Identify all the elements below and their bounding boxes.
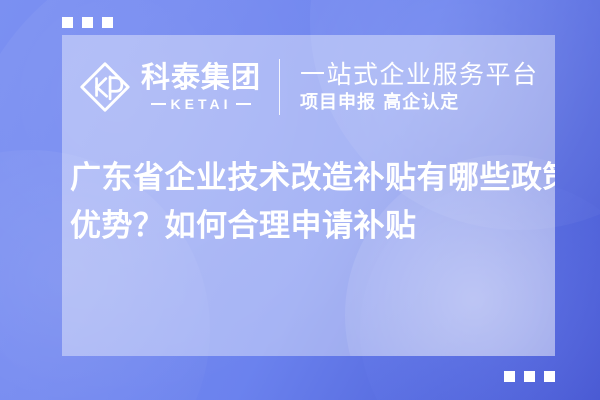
wordmark-rule-right bbox=[236, 103, 251, 105]
headline-title: 广东省企业技术改造补贴有哪些政策优势？如何合理申请补贴 bbox=[70, 154, 555, 250]
ketai-kp-diamond-logo-icon bbox=[78, 60, 132, 114]
brand-name-en: KETAI bbox=[171, 97, 232, 111]
tagline-main: 一站式企业服务平台 bbox=[300, 61, 539, 89]
brand-divider bbox=[279, 59, 280, 115]
tagline-block: 一站式企业服务平台 项目申报 高企认定 bbox=[300, 61, 539, 112]
content-panel: 科泰集团 KETAI 一站式企业服务平台 项目申报 高企认定 广东省企业技术改造… bbox=[62, 35, 555, 356]
square-dot-icon bbox=[82, 17, 93, 28]
square-dot-icon bbox=[62, 17, 73, 28]
decorative-dots-bottom-right bbox=[504, 371, 555, 382]
brand-wordmark: 科泰集团 KETAI bbox=[141, 63, 261, 111]
decorative-dots-top-left bbox=[62, 17, 113, 28]
square-dot-icon bbox=[524, 371, 535, 382]
brand-name-en-row: KETAI bbox=[151, 97, 252, 111]
promo-banner: 科泰集团 KETAI 一站式企业服务平台 项目申报 高企认定 广东省企业技术改造… bbox=[0, 0, 600, 400]
tagline-sub: 项目申报 高企认定 bbox=[300, 93, 539, 113]
brand-header-row: 科泰集团 KETAI 一站式企业服务平台 项目申报 高企认定 bbox=[70, 46, 555, 128]
wordmark-rule-left bbox=[151, 103, 166, 105]
square-dot-icon bbox=[544, 371, 555, 382]
brand-logo-lockup[interactable]: 科泰集团 KETAI bbox=[70, 60, 261, 114]
brand-name-cn: 科泰集团 bbox=[141, 63, 261, 92]
square-dot-icon bbox=[102, 17, 113, 28]
square-dot-icon bbox=[504, 371, 515, 382]
